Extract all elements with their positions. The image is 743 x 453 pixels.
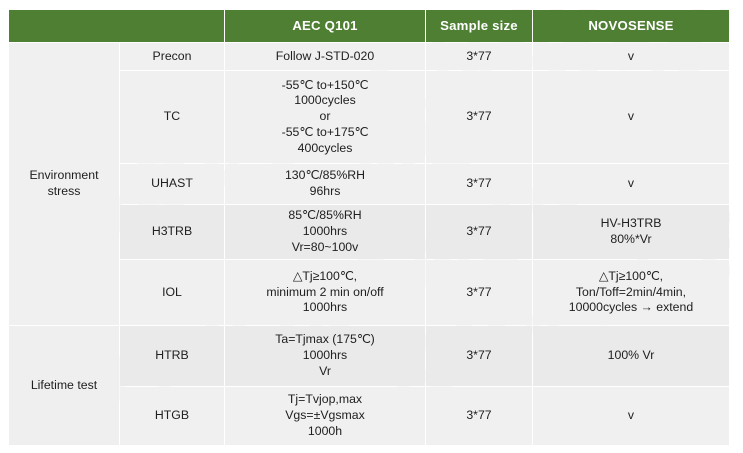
novosense-check-mark: v bbox=[533, 387, 729, 445]
test-item-cell: IOL bbox=[120, 260, 224, 325]
table-row: Lifetime testHTRBTa=Tjmax (175℃)1000hrsV… bbox=[9, 326, 729, 386]
header-blank bbox=[9, 10, 224, 42]
header-aec-q101: AEC Q101 bbox=[225, 10, 425, 42]
novosense-spec-cell: HV-H3TRB80%*Vr bbox=[533, 205, 729, 259]
qualification-comparison-table: AEC Q101 Sample size NOVOSENSE Environme… bbox=[8, 9, 730, 446]
sample-size-cell: 3*77 bbox=[426, 71, 532, 163]
aec-spec-cell: Ta=Tjmax (175℃)1000hrsVr bbox=[225, 326, 425, 386]
group-label-cell: Lifetime test bbox=[9, 326, 119, 445]
aec-spec-cell: -55℃ to+150℃1000cyclesor-55℃ to+175℃400c… bbox=[225, 71, 425, 163]
aec-spec-cell: 85℃/85%RH1000hrsVr=80~100v bbox=[225, 205, 425, 259]
header-novosense: NOVOSENSE bbox=[533, 10, 729, 42]
novosense-check-mark: v bbox=[533, 71, 729, 163]
aec-spec-cell: Tj=Tvjop,maxVgs=±Vgsmax1000h bbox=[225, 387, 425, 445]
test-item-cell: TC bbox=[120, 71, 224, 163]
test-item-cell: UHAST bbox=[120, 164, 224, 204]
header-sample-size: Sample size bbox=[426, 10, 532, 42]
sample-size-cell: 3*77 bbox=[426, 164, 532, 204]
novosense-check-mark: v bbox=[533, 164, 729, 204]
novosense-spec-cell: △Tj≥100℃,Ton/Toff=2min/4min,10000cycles … bbox=[533, 260, 729, 325]
test-item-cell: H3TRB bbox=[120, 205, 224, 259]
table-row: Environment stressPreconFollow J-STD-020… bbox=[9, 43, 729, 70]
aec-spec-cell: Follow J-STD-020 bbox=[225, 43, 425, 70]
table-body: Environment stressPreconFollow J-STD-020… bbox=[9, 43, 729, 445]
sample-size-cell: 3*77 bbox=[426, 260, 532, 325]
novosense-check-mark: v bbox=[533, 43, 729, 70]
test-item-cell: HTRB bbox=[120, 326, 224, 386]
test-item-cell: Precon bbox=[120, 43, 224, 70]
aec-spec-cell: 130℃/85%RH96hrs bbox=[225, 164, 425, 204]
sample-size-cell: 3*77 bbox=[426, 326, 532, 386]
aec-spec-cell: △Tj≥100℃,minimum 2 min on/off1000hrs bbox=[225, 260, 425, 325]
sample-size-cell: 3*77 bbox=[426, 205, 532, 259]
group-label-cell: Environment stress bbox=[9, 43, 119, 325]
sample-size-cell: 3*77 bbox=[426, 43, 532, 70]
table-header-row: AEC Q101 Sample size NOVOSENSE bbox=[9, 10, 729, 42]
reliability-table-container: NOVOSENSE NOVOSENSE NOVOSENSE NOVOSENSE … bbox=[8, 9, 730, 444]
sample-size-cell: 3*77 bbox=[426, 387, 532, 445]
table-header: AEC Q101 Sample size NOVOSENSE bbox=[9, 10, 729, 42]
test-item-cell: HTGB bbox=[120, 387, 224, 445]
novosense-spec-cell: 100% Vr bbox=[533, 326, 729, 386]
